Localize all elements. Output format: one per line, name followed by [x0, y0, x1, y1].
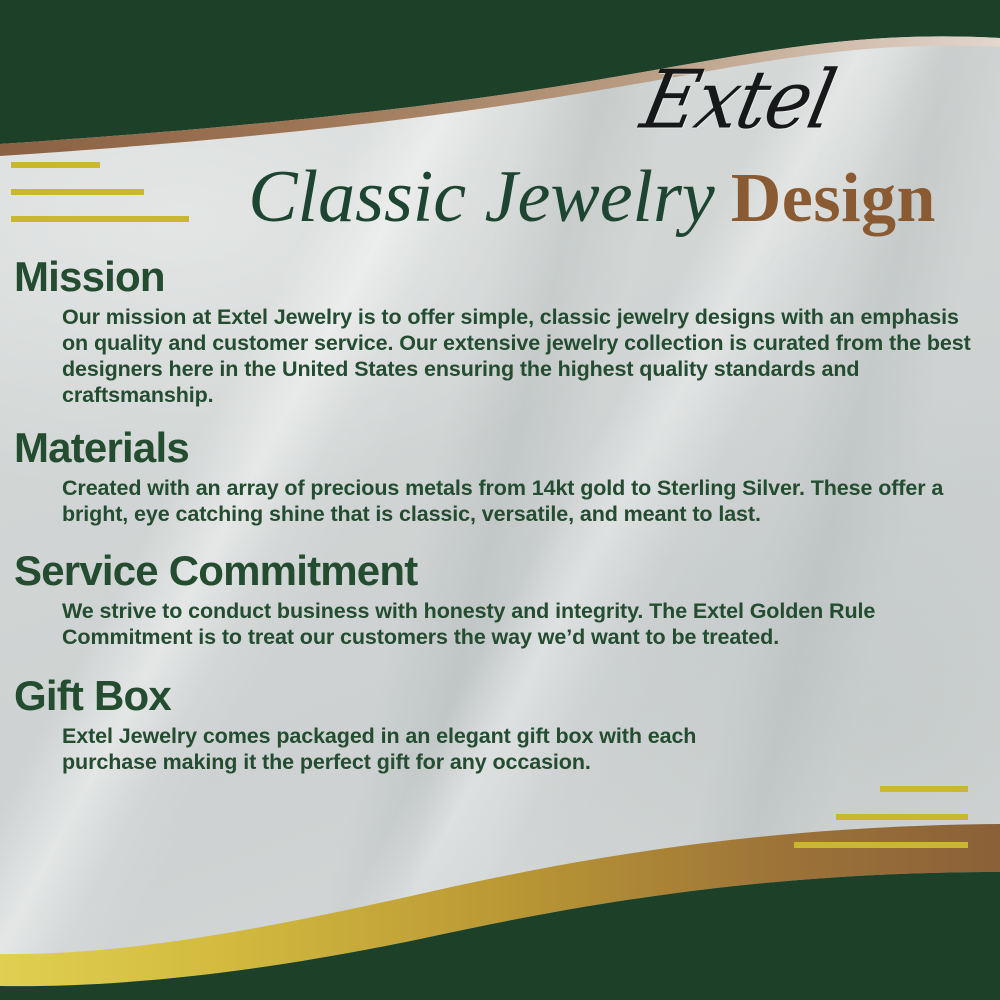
- section-heading: Materials: [14, 426, 979, 471]
- section-body: Extel Jewelry comes packaged in an elega…: [62, 723, 782, 775]
- section-mission: Mission Our mission at Extel Jewelry is …: [14, 255, 979, 408]
- section-heading: Mission: [14, 255, 979, 300]
- extel-logo-script: Extel: [599, 60, 876, 141]
- gold-rule: [794, 842, 968, 848]
- section-heading: Service Commitment: [14, 549, 979, 594]
- section-body: Our mission at Extel Jewelry is to offer…: [62, 304, 979, 409]
- section-service-commitment: Service Commitment We strive to conduct …: [14, 549, 979, 650]
- section-body: Created with an array of precious metals…: [62, 475, 979, 527]
- title-classic-jewelry: Classic Jewelry: [248, 156, 715, 238]
- section-heading: Gift Box: [14, 674, 979, 719]
- title-design: Design: [731, 160, 936, 237]
- gold-rule: [836, 814, 968, 820]
- poster-title: Classic JewelryDesign: [0, 155, 1000, 240]
- section-body: We strive to conduct business with hones…: [62, 598, 979, 650]
- gold-rule: [880, 786, 968, 792]
- gold-rules-bottom-right: [794, 786, 968, 870]
- section-materials: Materials Created with an array of preci…: [14, 426, 979, 527]
- section-gift-box: Gift Box Extel Jewelry comes packaged in…: [14, 674, 979, 775]
- poster-canvas: Extel Classic JewelryDesign Mission Our …: [0, 0, 1000, 1000]
- sections-container: Mission Our mission at Extel Jewelry is …: [14, 255, 979, 789]
